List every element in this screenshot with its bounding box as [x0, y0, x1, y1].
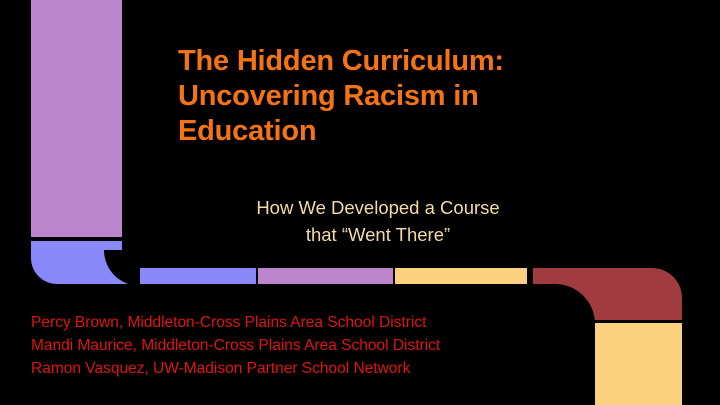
yellow-block-decoration — [595, 323, 682, 405]
slide-subtitle-line-1: How We Developed a Course — [178, 194, 578, 221]
presenter-line: Mandi Maurice, Middleton-Cross Plains Ar… — [31, 334, 591, 357]
slide-subtitle: How We Developed a Course that “Went The… — [178, 194, 578, 248]
presentation-slide: The Hidden Curriculum: Uncovering Racism… — [0, 0, 720, 405]
blue-elbow-arm-decoration — [122, 268, 256, 284]
slide-subtitle-line-2: that “Went There” — [178, 221, 578, 248]
purple-column-decoration — [31, 0, 122, 237]
presenter-line: Percy Brown, Middleton-Cross Plains Area… — [31, 311, 591, 334]
slide-title: The Hidden Curriculum: Uncovering Racism… — [178, 44, 598, 149]
presenter-line: Ramon Vasquez, UW-Madison Partner School… — [31, 357, 591, 380]
presenter-list: Percy Brown, Middleton-Cross Plains Area… — [31, 311, 591, 380]
purple-bar-decoration — [258, 268, 393, 284]
yellow-bar-decoration — [395, 268, 527, 284]
